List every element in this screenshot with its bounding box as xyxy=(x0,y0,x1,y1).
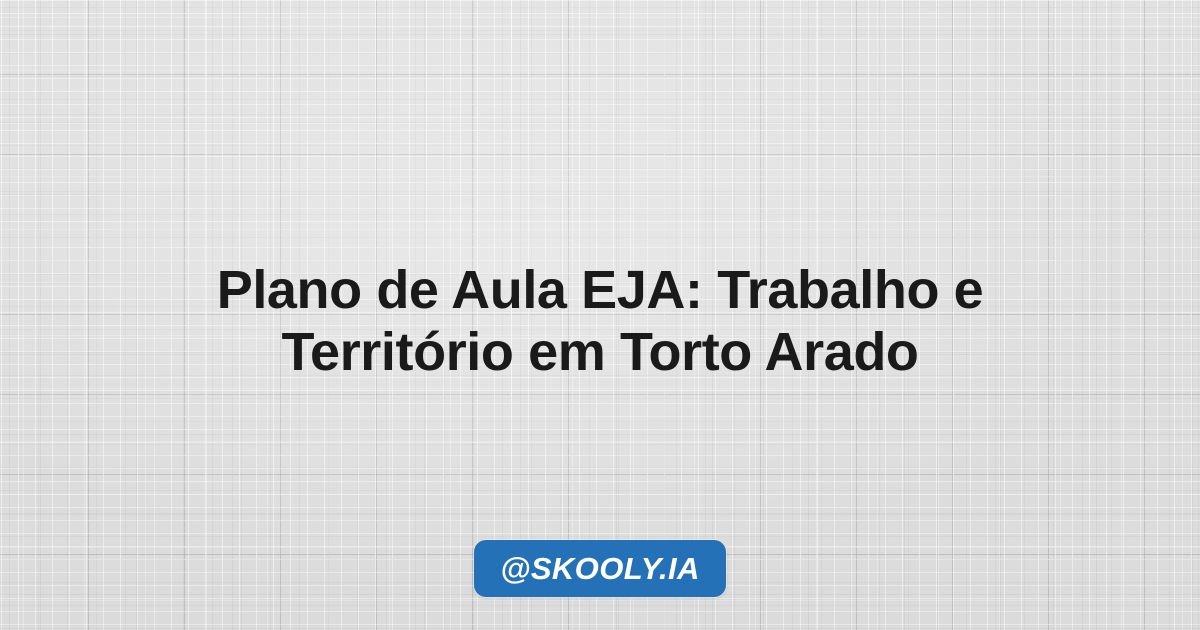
og-image-canvas: Plano de Aula EJA: Trabalho e Território… xyxy=(0,0,1200,630)
page-title: Plano de Aula EJA: Trabalho e Território… xyxy=(0,259,1200,383)
brand-handle-badge: @SKOOLY.IA xyxy=(474,540,726,597)
page-title-line-1: Plano de Aula EJA: Trabalho e xyxy=(60,259,1140,321)
brand-handle-label: @SKOOLY.IA xyxy=(500,553,700,584)
content-layer: Plano de Aula EJA: Trabalho e Território… xyxy=(0,0,1200,630)
page-title-line-2: Território em Torto Arado xyxy=(60,321,1140,383)
brand-badge-container: @SKOOLY.IA xyxy=(0,540,1200,597)
